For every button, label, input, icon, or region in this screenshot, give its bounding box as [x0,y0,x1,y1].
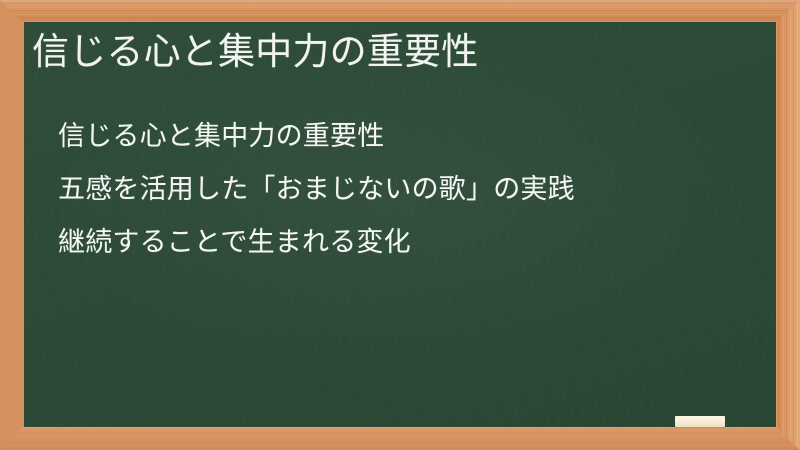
wood-frame-top [0,0,800,22]
chalkboard-slide: 信じる心と集中力の重要性 信じる心と集中力の重要性 五感を活用した「おまじないの… [0,0,800,450]
list-item: 継続することで生まれる変化 [58,216,748,269]
page-title: 信じる心と集中力の重要性 [32,29,744,75]
bullet-list: 信じる心と集中力の重要性 五感を活用した「おまじないの歌」の実践 継続することで… [58,110,748,269]
list-item: 五感を活用した「おまじないの歌」の実践 [58,163,748,216]
wood-frame-bottom [0,427,800,450]
list-item: 信じる心と集中力の重要性 [58,110,748,163]
chalkboard-surface: 信じる心と集中力の重要性 信じる心と集中力の重要性 五感を活用した「おまじないの… [24,22,776,427]
wood-frame-left [0,0,24,450]
wood-frame-right [776,0,800,450]
chalk-stick-icon [675,416,725,427]
